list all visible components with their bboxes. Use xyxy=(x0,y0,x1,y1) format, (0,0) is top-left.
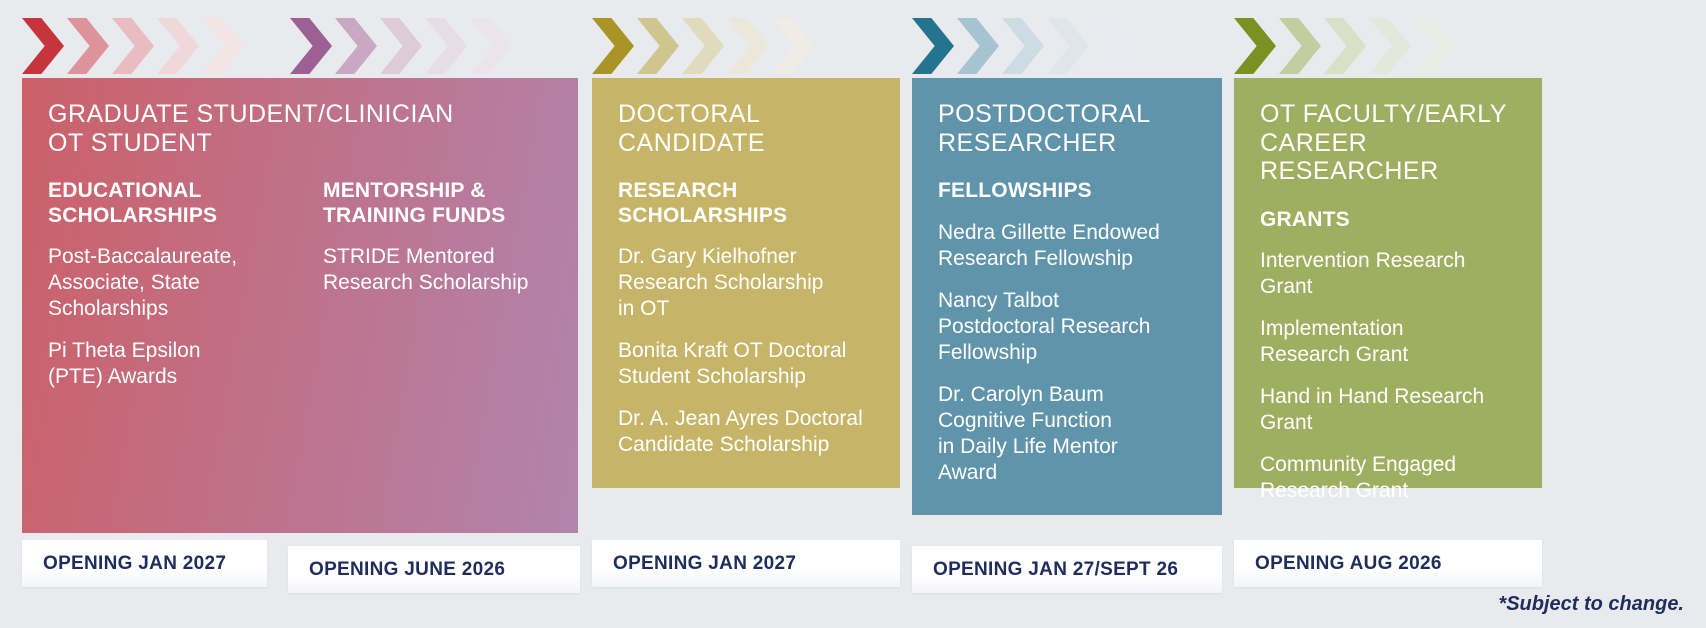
chevron-icon xyxy=(637,18,679,74)
section-heading: MENTORSHIP & TRAINING FUNDS xyxy=(323,179,578,228)
award-item: Community Engaged Research Grant xyxy=(1260,452,1516,504)
chevron-icon xyxy=(1002,18,1044,74)
chevron-icon xyxy=(290,18,332,74)
panel-category-title: POSTDOCTORAL RESEARCHER xyxy=(938,100,1196,157)
award-item: Bonita Kraft OT Doctoral Student Scholar… xyxy=(618,338,874,390)
subcolumn-mentorship-training-funds: MENTORSHIP & TRAINING FUNDS STRIDE Mento… xyxy=(323,157,578,590)
chevron-icon xyxy=(592,18,634,74)
panel-graduate-student-clinician: GRADUATE STUDENT/CLINICIAN OT STUDENT ED… xyxy=(22,78,578,533)
chevron-icon xyxy=(67,18,109,74)
chevron-icon xyxy=(1369,18,1411,74)
chevron-icon xyxy=(157,18,199,74)
chevron-row-mentorship xyxy=(290,18,512,74)
subcolumn-educational-scholarships: EDUCATIONAL SCHOLARSHIPS Post-Baccalaure… xyxy=(48,157,303,590)
award-item: Post-Baccalaureate, Associate, State Sch… xyxy=(48,244,303,322)
chevron-row-doctoral xyxy=(592,18,814,74)
section-heading: FELLOWSHIPS xyxy=(938,179,1196,204)
chevron-icon xyxy=(772,18,814,74)
chevron-icon xyxy=(1324,18,1366,74)
opening-badge-mentorship-training-funds: OPENING JUNE 2026 xyxy=(288,546,580,593)
award-item: Dr. Gary Kielhofner Research Scholarship… xyxy=(618,244,874,322)
chevron-row-postdoctoral xyxy=(912,18,1134,74)
chevron-icon xyxy=(470,18,512,74)
award-item: Hand in Hand Research Grant xyxy=(1260,384,1516,436)
section-heading: EDUCATIONAL SCHOLARSHIPS xyxy=(48,179,303,228)
opening-badge-doctoral-candidate: OPENING JAN 2027 xyxy=(592,540,900,587)
award-item: Nancy Talbot Postdoctoral Research Fello… xyxy=(938,288,1196,366)
chevron-icon xyxy=(682,18,724,74)
chevron-row-faculty xyxy=(1234,18,1456,74)
opening-badge-postdoctoral-researcher: OPENING JAN 27/SEPT 26 xyxy=(912,546,1222,593)
chevron-icon xyxy=(202,18,244,74)
opening-badge-educational-scholarships: OPENING JAN 2027 xyxy=(22,540,267,587)
chevron-icon xyxy=(727,18,769,74)
section-heading: RESEARCH SCHOLARSHIPS xyxy=(618,179,874,228)
chevron-icon xyxy=(335,18,377,74)
award-item: Nedra Gillette Endowed Research Fellowsh… xyxy=(938,220,1196,272)
chevron-icon xyxy=(112,18,154,74)
chevron-icon xyxy=(425,18,467,74)
award-item: Implementation Research Grant xyxy=(1260,316,1516,368)
opening-badge-ot-faculty: OPENING AUG 2026 xyxy=(1234,540,1542,587)
panel-doctoral-candidate: DOCTORAL CANDIDATE RESEARCH SCHOLARSHIPS… xyxy=(592,78,900,488)
panel-ot-faculty-early-career: OT FACULTY/EARLY CAREER RESEARCHER GRANT… xyxy=(1234,78,1542,488)
chevron-row-graduate xyxy=(22,18,244,74)
award-item: Pi Theta Epsilon (PTE) Awards xyxy=(48,338,303,390)
panel-category-title: DOCTORAL CANDIDATE xyxy=(618,100,874,157)
chevron-icon xyxy=(957,18,999,74)
chevron-icon xyxy=(1414,18,1456,74)
chevron-icon xyxy=(1279,18,1321,74)
panel-postdoctoral-researcher: POSTDOCTORAL RESEARCHER FELLOWSHIPS Nedr… xyxy=(912,78,1222,515)
award-item: Dr. Carolyn Baum Cognitive Function in D… xyxy=(938,382,1196,486)
award-item: Dr. A. Jean Ayres Doctoral Candidate Sch… xyxy=(618,406,874,458)
panel-category-title: OT FACULTY/EARLY CAREER RESEARCHER xyxy=(1260,100,1516,186)
chevron-icon xyxy=(1234,18,1276,74)
chevron-icon xyxy=(380,18,422,74)
panel-category-title: GRADUATE STUDENT/CLINICIAN OT STUDENT xyxy=(48,100,552,157)
subject-to-change-note: *Subject to change. xyxy=(1498,593,1684,616)
chevron-icon xyxy=(1092,18,1134,74)
chevron-icon xyxy=(912,18,954,74)
award-item: Intervention Research Grant xyxy=(1260,248,1516,300)
chevron-icon xyxy=(22,18,64,74)
award-item: STRIDE Mentored Research Scholarship xyxy=(323,244,578,296)
chevron-icon xyxy=(1047,18,1089,74)
section-heading: GRANTS xyxy=(1260,208,1516,233)
